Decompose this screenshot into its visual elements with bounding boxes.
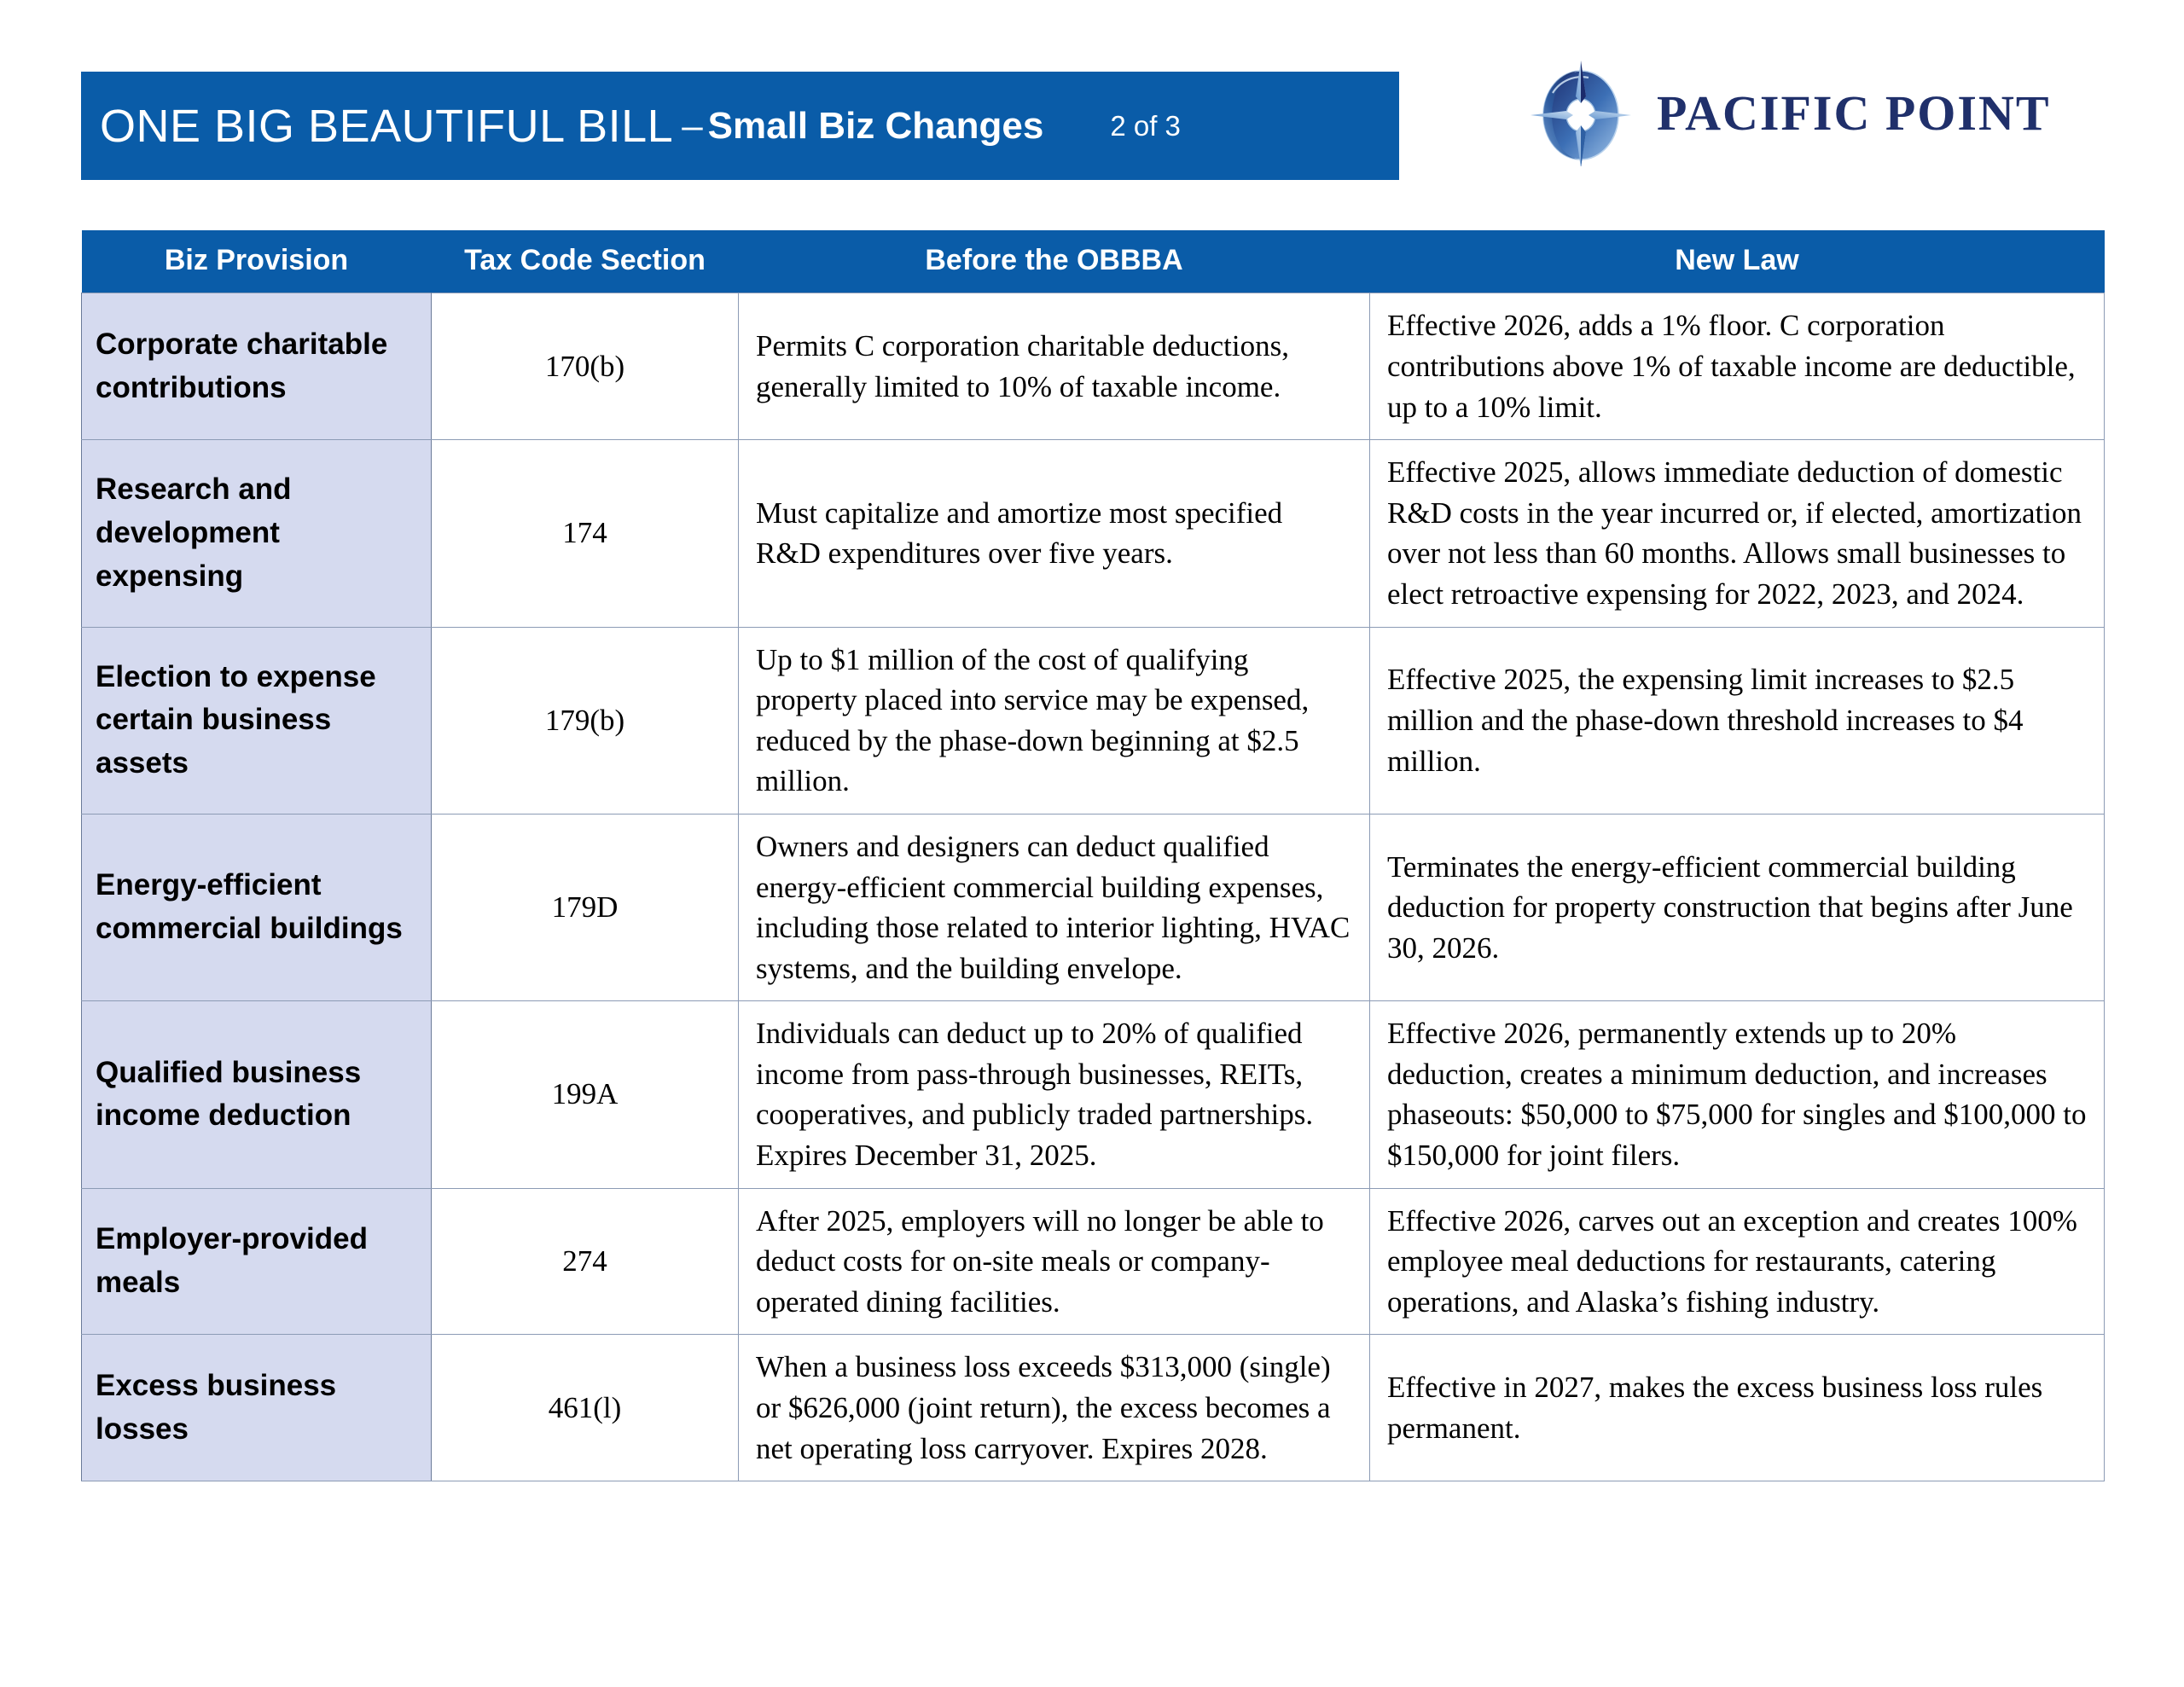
cell-before: Owners and designers can deduct qualifie… — [739, 814, 1370, 1000]
cell-before: Up to $1 million of the cost of qualifyi… — [739, 627, 1370, 814]
brand-wordmark: PACIFIC POINT — [1657, 84, 2051, 142]
title-dash: – — [682, 105, 702, 148]
cell-before: Must capitalize and amortize most specif… — [739, 440, 1370, 627]
cell-section: 179(b) — [432, 627, 739, 814]
cell-section: 170(b) — [432, 293, 739, 440]
column-header-tax-code-section: Tax Code Section — [432, 230, 739, 293]
table-row: Excess business losses 461(l) When a bus… — [82, 1335, 2105, 1481]
table-row: Corporate charitable contributions 170(b… — [82, 293, 2105, 440]
table-row: Research and development expensing 174 M… — [82, 440, 2105, 627]
cell-section: 179D — [432, 814, 739, 1000]
table-row: Energy-efficient commercial buildings 17… — [82, 814, 2105, 1000]
table-row: Qualified business income deduction 199A… — [82, 1001, 2105, 1188]
page-subtitle: Small Biz Changes — [708, 105, 1044, 148]
cell-before: After 2025, employers will no longer be … — [739, 1188, 1370, 1335]
cell-provision: Corporate charitable contributions — [82, 293, 432, 440]
cell-provision: Research and development expensing — [82, 440, 432, 627]
document-page: ONE BIG BEAUTIFUL BILL – Small Biz Chang… — [0, 0, 2184, 1687]
cell-new-law: Effective 2026, adds a 1% floor. C corpo… — [1370, 293, 2105, 440]
cell-provision: Energy-efficient commercial buildings — [82, 814, 432, 1000]
cell-new-law: Effective 2025, allows immediate deducti… — [1370, 440, 2105, 627]
table-header-row: Biz Provision Tax Code Section Before th… — [82, 230, 2105, 293]
provisions-table: Biz Provision Tax Code Section Before th… — [81, 230, 2105, 1481]
cell-section: 461(l) — [432, 1335, 739, 1481]
column-header-new-law: New Law — [1370, 230, 2105, 293]
cell-provision: Election to expense certain business ass… — [82, 627, 432, 814]
title-banner: ONE BIG BEAUTIFUL BILL – Small Biz Chang… — [81, 72, 1399, 180]
cell-provision: Employer-provided meals — [82, 1188, 432, 1335]
compass-sphere-icon — [1527, 59, 1635, 166]
brand-logo: PACIFIC POINT — [1527, 53, 2090, 172]
cell-before: When a business loss exceeds $313,000 (s… — [739, 1335, 1370, 1481]
cell-before: Permits C corporation charitable deducti… — [739, 293, 1370, 440]
cell-section: 274 — [432, 1188, 739, 1335]
cell-new-law: Effective 2025, the expensing limit incr… — [1370, 627, 2105, 814]
column-header-biz-provision: Biz Provision — [82, 230, 432, 293]
table-row: Employer-provided meals 274 After 2025, … — [82, 1188, 2105, 1335]
cell-section: 199A — [432, 1001, 739, 1188]
cell-section: 174 — [432, 440, 739, 627]
page-indicator: 2 of 3 — [1110, 110, 1181, 142]
column-header-before-obbba: Before the OBBBA — [739, 230, 1370, 293]
cell-provision: Excess business losses — [82, 1335, 432, 1481]
page-title: ONE BIG BEAUTIFUL BILL — [100, 100, 673, 153]
cell-before: Individuals can deduct up to 20% of qual… — [739, 1001, 1370, 1188]
cell-provision: Qualified business income deduction — [82, 1001, 432, 1188]
cell-new-law: Effective 2026, permanently extends up t… — [1370, 1001, 2105, 1188]
cell-new-law: Effective in 2027, makes the excess busi… — [1370, 1335, 2105, 1481]
cell-new-law: Terminates the energy-efficient commerci… — [1370, 814, 2105, 1000]
cell-new-law: Effective 2026, carves out an exception … — [1370, 1188, 2105, 1335]
table-row: Election to expense certain business ass… — [82, 627, 2105, 814]
